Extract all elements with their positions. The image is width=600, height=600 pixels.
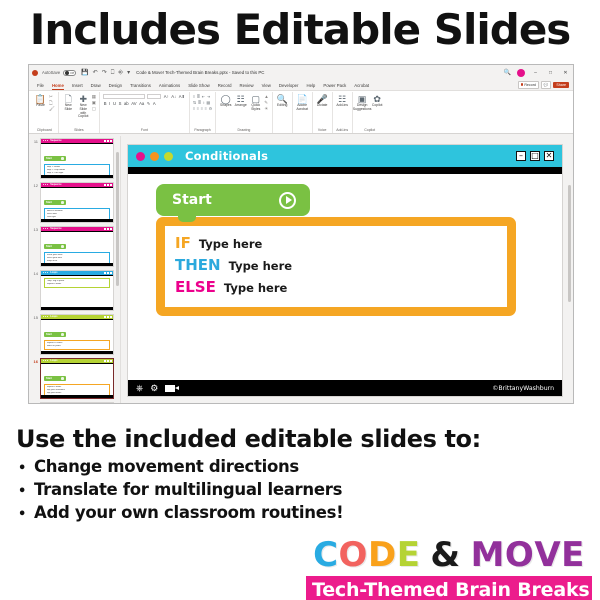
decrease-font-icon[interactable]: A↓: [170, 94, 176, 99]
font-row-1: A↑ A↓ A⬆: [103, 94, 186, 99]
logo-tagline: Tech-Themed Brain Breaks: [312, 579, 590, 600]
text-highlight-icon[interactable]: ✎: [146, 101, 151, 106]
list-item: • Translate for multilingual learners: [18, 479, 538, 502]
slide-close-icon: ✕: [544, 151, 554, 161]
logo-letter-c: C: [313, 536, 338, 574]
tab-help[interactable]: Help: [302, 83, 319, 90]
paste-label: Paste: [36, 104, 45, 108]
font-size-input[interactable]: [147, 94, 161, 99]
copyright-text: ©BrittanyWashburn: [492, 385, 554, 392]
dictate-label: Dictate: [317, 104, 328, 108]
ribbon-group-editing: 🔍 Editing: [273, 92, 293, 133]
record-dot-icon: [521, 83, 524, 86]
tab-animations[interactable]: Animations: [155, 83, 184, 90]
copilot-label: Copilot: [372, 104, 383, 108]
camera-icon: [165, 385, 175, 392]
thumb-footer: [41, 175, 113, 178]
bullet-text: Add your own classroom routines!: [34, 502, 343, 523]
thumb-header: Loops: [41, 403, 113, 404]
align-left-icon[interactable]: ≡: [193, 106, 195, 111]
record-button[interactable]: Record: [518, 81, 539, 89]
align-center-icon[interactable]: ≡: [197, 106, 199, 111]
new-slide-label: New Slide: [62, 104, 75, 112]
touch-mode-icon[interactable]: ⎆: [118, 70, 123, 76]
conditional-row-then[interactable]: THEN Type here: [175, 257, 497, 274]
work-area: 11 Sequence: [29, 136, 573, 403]
align-right-icon[interactable]: ≡: [201, 106, 203, 111]
logo-letter-m: M: [471, 536, 505, 574]
slide-thumbnail[interactable]: Loops Start Repeat 10 times March in: [40, 314, 114, 355]
list-item[interactable]: 16 Loops Start: [29, 356, 120, 400]
conditional-row-else[interactable]: ELSE Type here: [175, 279, 497, 296]
slide-black-bar: [128, 167, 562, 174]
thumb-window-buttons: [104, 316, 111, 318]
adobe-acrobat-button[interactable]: 📄 Adobe Acrobat: [296, 94, 309, 112]
if-placeholder[interactable]: Type here: [199, 237, 262, 251]
slide-minimize-icon: –: [516, 151, 526, 161]
thumb-content-box: Loop: Jog in place Repeat 3 times: [44, 278, 110, 288]
font-row-2: B I U S ab AV Aa ✎ A: [103, 101, 186, 106]
slide-title: Conditionals: [185, 149, 268, 163]
document-title[interactable]: Code & Move! Tech-Themed Brain Breaks.pp…: [136, 70, 264, 75]
thumb-title: Sequence: [50, 139, 61, 142]
slide-footer: ⎈ ⚙ ©BrittanyWashburn: [128, 380, 562, 396]
thumb-dot: [45, 140, 46, 141]
thumb-dot: [47, 140, 48, 141]
tab-acrobat[interactable]: Acrobat: [350, 83, 373, 90]
new-slide-copilot-label: New Slide with Copilot: [77, 104, 90, 119]
ribbon-group-font: A↑ A↓ A⬆ B I U S ab AV Aa ✎: [100, 92, 190, 133]
bullet-text: Translate for multilingual learners: [34, 479, 342, 500]
quick-styles-label: Quick Styles: [249, 104, 262, 112]
tab-power-pack[interactable]: Power Pack: [319, 83, 350, 90]
tab-transitions[interactable]: Transitions: [126, 83, 155, 90]
thumb-dots: [43, 272, 49, 273]
thumb-body: Start Repeat 10 times March in place: [41, 320, 113, 350]
slide-dot-yellow: [164, 152, 173, 161]
paragraph-row-2: ⇅ ≣ ↕ ▦: [193, 100, 212, 105]
thumb-title: Sequence: [50, 227, 61, 230]
thumb-window-buttons: [104, 140, 111, 142]
powerpoint-window: AutoSave Off 💾 ↶ ↷ ⎕ ⎆ ▾ Code & Move! Te…: [28, 64, 574, 404]
ribbon-group-copilot: ▣ Design Suggestions ✿ Copilot Copilot: [353, 92, 387, 133]
design-suggestions-label: Design Suggestions: [353, 104, 372, 112]
text-direction-icon[interactable]: ⇅: [193, 100, 196, 105]
else-keyword: ELSE: [175, 279, 216, 296]
format-painter-icon[interactable]: 🖌: [49, 106, 55, 111]
copilot-button[interactable]: ✿ Copilot: [371, 94, 384, 108]
poster-page: Includes Editable Slides AutoSave Off 💾 …: [0, 0, 600, 600]
thumbnail-number: 17: [31, 402, 38, 404]
slide-thumbnail[interactable]: Loops Loop: Jog in place Repeat 3 times: [40, 270, 114, 311]
comments-button[interactable]: 💬: [541, 81, 551, 89]
conditional-row-if[interactable]: IF Type here: [175, 235, 497, 252]
thumb-body: Start Select a location Touch wall Turn …: [41, 188, 113, 218]
brand-logo: CODE&MOVE Tech-Themed Brain Breaks: [306, 536, 592, 600]
maximize-button[interactable]: □: [546, 70, 555, 76]
start-connector: [178, 215, 196, 222]
start-block[interactable]: Start: [156, 184, 310, 216]
list-item[interactable]: 17 Loops Start: [29, 400, 120, 403]
play-icon: [61, 157, 64, 160]
reset-icon[interactable]: ▣: [92, 100, 96, 105]
thumb-dots: [43, 228, 49, 229]
if-keyword: IF: [175, 235, 191, 252]
line-spacing-icon[interactable]: ↕: [203, 100, 205, 105]
adobe-items: 📄 Adobe Acrobat: [296, 93, 309, 132]
slide-dot-orange: [150, 152, 159, 161]
slide-dots: [136, 152, 173, 161]
slide-thumbnail[interactable]: Loops Start Repeat 4 times Do some c: [40, 402, 114, 404]
play-icon: [61, 333, 64, 336]
columns-icon[interactable]: ▦: [206, 100, 210, 105]
list-item[interactable]: 14 Loops Loop: Jog in place: [29, 268, 120, 312]
avatar[interactable]: [517, 69, 525, 77]
slide-window-buttons: – □ ✕: [516, 151, 554, 161]
list-item[interactable]: 15 Loops Start: [29, 312, 120, 356]
autosave-toggle[interactable]: Off: [63, 70, 76, 76]
logo-letter-v: V: [534, 536, 561, 574]
slides-items: 🗋 New Slide ✚ New Slide with Copilot ▦ ▣…: [62, 93, 96, 128]
play-icon: [279, 192, 296, 209]
new-slide-button[interactable]: 🗋 New Slide: [62, 94, 75, 112]
slide-body: Start IF Type here THEN: [128, 174, 562, 380]
slide-dot-magenta: [136, 152, 145, 161]
italic-icon[interactable]: I: [108, 101, 111, 106]
power-icon: ⎈: [136, 384, 143, 393]
addins-label: Add-ins: [336, 104, 348, 108]
start-label: Start: [172, 192, 212, 208]
thumb-start-label: Start: [46, 377, 52, 380]
cut-icon[interactable]: ✂: [49, 94, 55, 99]
addins-button[interactable]: ☷ Add-ins: [336, 94, 349, 108]
new-slide-copilot-button[interactable]: ✚ New Slide with Copilot: [77, 94, 90, 119]
subheading: Use the included editable slides to:: [16, 424, 584, 454]
paragraph-row-3: ≡ ≡ ≡ ≡ ⚙: [193, 106, 212, 111]
slide-stage: Conditionals – □ ✕ Start: [121, 136, 573, 403]
thumb-window-buttons: [104, 184, 111, 186]
thumb-footer: [41, 219, 113, 222]
shape-fill-icon[interactable]: ▲: [264, 94, 268, 99]
font-group-label: Font: [141, 128, 148, 133]
logo-letter-e1: E: [397, 536, 421, 574]
toggle-knob: [65, 71, 69, 75]
redo-icon[interactable]: ↷: [102, 70, 107, 76]
thumb-start-label: Start: [46, 157, 52, 160]
play-icon: [61, 245, 64, 248]
tab-record[interactable]: Record: [214, 83, 236, 90]
thumb-start-chip: Start: [44, 244, 66, 249]
undo-icon[interactable]: ↶: [93, 70, 98, 76]
ribbon-group-adobe: 📄 Adobe Acrobat: [293, 92, 313, 133]
layout-icon[interactable]: ▦: [92, 94, 96, 99]
font-family-input[interactable]: [103, 94, 145, 99]
shape-effects-icon[interactable]: ☀: [264, 106, 268, 111]
bullets-icon[interactable]: ≡: [193, 94, 195, 99]
ribbon-group-clipboard: 📋 Paste ✂ 🗋 🖌 Clipboard: [31, 92, 59, 133]
slide-thumbnail-pane[interactable]: 11 Sequence: [29, 136, 121, 403]
bullet-text: Change movement directions: [34, 456, 299, 477]
section-icon[interactable]: ▢: [92, 106, 96, 111]
bold-icon[interactable]: B: [103, 101, 107, 106]
quick-styles-button[interactable]: ▢ Quick Styles: [249, 94, 262, 112]
logo-letter-o1: O: [339, 536, 368, 574]
bullet-dot-icon: •: [18, 481, 34, 502]
thumb-start-label: Start: [46, 201, 52, 204]
thumb-title: Loops: [50, 359, 57, 362]
thumbnail-scrollbar-thumb[interactable]: [116, 152, 119, 286]
tab-design[interactable]: Design: [105, 83, 126, 90]
thumb-window-buttons: [104, 228, 111, 230]
editing-button[interactable]: 🔍 Editing: [276, 94, 289, 108]
shadow-icon[interactable]: S: [118, 101, 122, 106]
thumbnail-number: 12: [31, 182, 38, 188]
thumb-title: Sequence: [50, 183, 61, 186]
thumbnail-number: 15: [31, 314, 38, 320]
thumb-dot: [43, 140, 44, 141]
then-placeholder[interactable]: Type here: [229, 259, 292, 273]
clipboard-minitools: ✂ 🗋 🖌: [49, 94, 55, 111]
font-color-icon[interactable]: A: [152, 101, 156, 106]
thumbnail-number: 13: [31, 226, 38, 232]
clipboard-group-label: Clipboard: [37, 128, 52, 133]
thumb-start-label: Start: [46, 245, 52, 248]
ribbon-tabs: File Home Insert Draw Design Transitions…: [29, 80, 573, 91]
increase-font-icon[interactable]: A↑: [163, 94, 169, 99]
thumb-footer: [41, 307, 113, 310]
thumb-line: Repeat 3 times: [47, 283, 108, 286]
tab-review[interactable]: Review: [236, 83, 258, 90]
clipboard-items: 📋 Paste ✂ 🗋 🖌: [34, 93, 55, 128]
tab-draw[interactable]: Draw: [87, 83, 105, 90]
powerpoint-icon: [32, 70, 38, 76]
current-slide[interactable]: Conditionals – □ ✕ Start: [127, 144, 563, 397]
ribbon-tabs-right: Record 💬 Share: [518, 81, 569, 89]
thumb-footer: [41, 395, 113, 398]
play-icon: [61, 377, 64, 380]
close-button[interactable]: ✕: [561, 70, 570, 76]
design-suggestions-button[interactable]: ▣ Design Suggestions: [356, 94, 369, 112]
play-icon: [61, 201, 64, 204]
conditional-inner: IF Type here THEN Type here ELSE Type he…: [165, 226, 507, 307]
bullet-dot-icon: •: [18, 504, 34, 525]
list-item[interactable]: 12 Sequence Start: [29, 180, 120, 224]
thumb-body: Start Repeat 5 times Tap your shoulders …: [41, 364, 113, 394]
ribbon-group-slides: 🗋 New Slide ✚ New Slide with Copilot ▦ ▣…: [59, 92, 100, 133]
thumb-start-chip: Start: [44, 200, 66, 205]
thumb-window-buttons: [104, 360, 111, 362]
editing-items: 🔍 Editing: [276, 93, 289, 132]
strikethrough-icon[interactable]: ab: [123, 101, 129, 106]
conditional-card[interactable]: IF Type here THEN Type here ELSE Type he…: [156, 217, 516, 316]
thumb-start-chip: Start: [44, 376, 66, 381]
comment-icon: 💬: [544, 83, 548, 87]
shapes-button[interactable]: ◯ Shapes: [219, 94, 232, 108]
change-case-icon[interactable]: Aa: [138, 101, 145, 106]
arrange-button[interactable]: ☷ Arrange: [234, 94, 247, 108]
indent-decrease-icon[interactable]: ⇤: [202, 94, 205, 99]
ribbon-group-drawing: ◯ Shapes ☷ Arrange ▢ Quick Styles ▲ ✎: [216, 92, 272, 133]
list-item[interactable]: 11 Sequence: [29, 136, 120, 180]
thumb-start-label: Start: [46, 333, 52, 336]
font-items: A↑ A↓ A⬆ B I U S ab AV Aa ✎: [103, 93, 186, 128]
smartart-icon[interactable]: ⚙: [209, 106, 213, 111]
paragraph-group-label: Paragraph: [194, 128, 210, 133]
drawing-group-label: Drawing: [238, 128, 251, 133]
record-label: Record: [524, 83, 536, 87]
list-item[interactable]: 13 Sequence Start: [29, 224, 120, 268]
slide-scrollbar[interactable]: [568, 146, 571, 389]
adobe-acrobat-label: Adobe Acrobat: [296, 104, 309, 112]
dictate-button[interactable]: 🎤 Dictate: [316, 94, 329, 108]
logo-tagline-band: Tech-Themed Brain Breaks: [306, 576, 592, 600]
save-icon[interactable]: 💾: [81, 70, 88, 76]
thumb-body: Start Raise your arms Touch your toes Ju…: [41, 232, 113, 262]
tab-developer[interactable]: Developer: [275, 83, 303, 90]
addins-group-label: Add-ins: [336, 128, 348, 133]
ribbon-group-voice: 🎤 Dictate Voice: [313, 92, 333, 133]
thumb-dots: [43, 184, 49, 185]
logo-letter-d: D: [368, 536, 397, 574]
editing-label: Editing: [277, 104, 287, 108]
copy-icon[interactable]: 🗋: [49, 100, 55, 105]
slide-thumbnail[interactable]: Sequence Start Select a location Tou: [40, 182, 114, 223]
thumbnail-number: 14: [31, 270, 38, 276]
thumbnail-scrollbar[interactable]: [116, 142, 119, 399]
slide-maximize-icon: □: [530, 151, 540, 161]
thumbnail-number: 11: [31, 138, 38, 144]
tab-view[interactable]: View: [258, 83, 275, 90]
minimize-button[interactable]: –: [531, 70, 540, 76]
ribbon-group-addins: ☷ Add-ins Add-ins: [333, 92, 353, 133]
addins-items: ☷ Add-ins: [336, 93, 349, 128]
ribbon: 📋 Paste ✂ 🗋 🖌 Clipboard 🗋 New Slide: [29, 91, 573, 134]
thumb-dots: [43, 140, 49, 141]
voice-group-label: Voice: [318, 128, 327, 133]
bullet-list: • Change movement directions • Translate…: [18, 456, 538, 525]
slide-thumbnail[interactable]: Sequence Start Raise your arms Touch: [40, 226, 114, 267]
slide-header: Conditionals – □ ✕: [128, 145, 562, 167]
thumb-dots: [43, 360, 49, 361]
align-text-icon[interactable]: ≣: [198, 100, 201, 105]
titlebar-right: 🔍 – □ ✕: [504, 65, 570, 80]
thumb-footer: [41, 263, 113, 266]
copilot-items: ▣ Design Suggestions ✿ Copilot: [356, 93, 384, 128]
page-title: Includes Editable Slides: [0, 2, 600, 58]
thumbnail-number: 16: [31, 358, 38, 364]
thumb-start-chip: Start: [44, 156, 66, 161]
list-item: • Add your own classroom routines!: [18, 502, 538, 525]
logo-wordmark: CODE&MOVE: [306, 536, 592, 574]
qat-more-icon[interactable]: ▾: [127, 70, 130, 76]
search-icon[interactable]: 🔍: [504, 69, 511, 76]
arrange-label: Arrange: [235, 104, 247, 108]
thumb-body: Loop: Jog in place Repeat 3 times: [41, 276, 113, 306]
thumb-footer: [41, 351, 113, 354]
tab-slide-show[interactable]: Slide Show: [184, 83, 214, 90]
slides-group-label: Slides: [74, 128, 84, 133]
bullet-dot-icon: •: [18, 458, 34, 479]
ribbon-group-paragraph: ≡ ≣ ⇤ ⇥ ⇅ ≣ ↕ ▦ ≡ ≡: [190, 92, 216, 133]
thumb-start-chip: Start: [44, 332, 66, 337]
character-spacing-icon[interactable]: AV: [130, 101, 137, 106]
present-icon[interactable]: ⎕: [111, 70, 115, 76]
thumb-dots: [43, 316, 49, 317]
slide-footer-icons: ⎈ ⚙: [136, 384, 175, 393]
slide-thumbnail[interactable]: Sequence Start Step 1: Stand Step 2:: [40, 138, 114, 179]
clear-formatting-icon[interactable]: A⬆: [178, 94, 186, 99]
share-button[interactable]: Share: [553, 82, 569, 88]
tab-insert[interactable]: Insert: [68, 83, 87, 90]
thumb-title: Loops: [50, 271, 57, 274]
autosave-label: AutoSave: [42, 70, 60, 75]
list-item: • Change movement directions: [18, 456, 538, 479]
thumb-line: March in place: [47, 345, 108, 348]
indent-increase-icon[interactable]: ⇥: [207, 94, 210, 99]
autosave-state: Off: [70, 71, 74, 75]
slides-minitools: ▦ ▣ ▢: [92, 94, 96, 111]
voice-items: 🎤 Dictate: [316, 93, 329, 128]
quick-access-toolbar: 💾 ↶ ↷ ⎕ ⎆ ▾: [81, 70, 130, 76]
thumb-body: Start Step 1: Stand Step 2: Clap hands S…: [41, 144, 113, 174]
settings-icon: ⚙: [150, 384, 158, 393]
drawing-items: ◯ Shapes ☷ Arrange ▢ Quick Styles ▲ ✎: [219, 93, 268, 128]
shape-outline-icon[interactable]: ✎: [264, 100, 268, 105]
logo-letter-o2: O: [505, 536, 534, 574]
thumb-content-box: Repeat 10 times March in place: [44, 340, 110, 350]
thumb-title: Loops: [50, 315, 57, 318]
numbering-icon[interactable]: ≣: [197, 94, 200, 99]
paragraph-row-1: ≡ ≣ ⇤ ⇥: [193, 94, 212, 99]
shapes-label: Shapes: [220, 104, 232, 108]
slide-thumbnail-selected[interactable]: Loops Start Repeat 5 times Tap your: [40, 358, 114, 399]
copilot-group-label: Copilot: [364, 128, 375, 133]
tab-home[interactable]: Home: [48, 83, 68, 90]
logo-ampersand: &: [430, 536, 460, 574]
then-keyword: THEN: [175, 257, 221, 274]
paste-button[interactable]: 📋 Paste: [34, 94, 47, 108]
else-placeholder[interactable]: Type here: [224, 281, 287, 295]
thumb-window-buttons: [104, 272, 111, 274]
underline-icon[interactable]: U: [112, 101, 117, 106]
tab-file[interactable]: File: [33, 83, 48, 90]
justify-icon[interactable]: ≡: [205, 106, 207, 111]
paragraph-items: ≡ ≣ ⇤ ⇥ ⇅ ≣ ↕ ▦ ≡ ≡: [193, 93, 212, 128]
drawing-minitools: ▲ ✎ ☀: [264, 94, 268, 111]
logo-letter-e2: E: [561, 536, 585, 574]
titlebar: AutoSave Off 💾 ↶ ↷ ⎕ ⎆ ▾ Code & Move! Te…: [29, 65, 573, 80]
slide-scrollbar-thumb[interactable]: [568, 185, 571, 302]
